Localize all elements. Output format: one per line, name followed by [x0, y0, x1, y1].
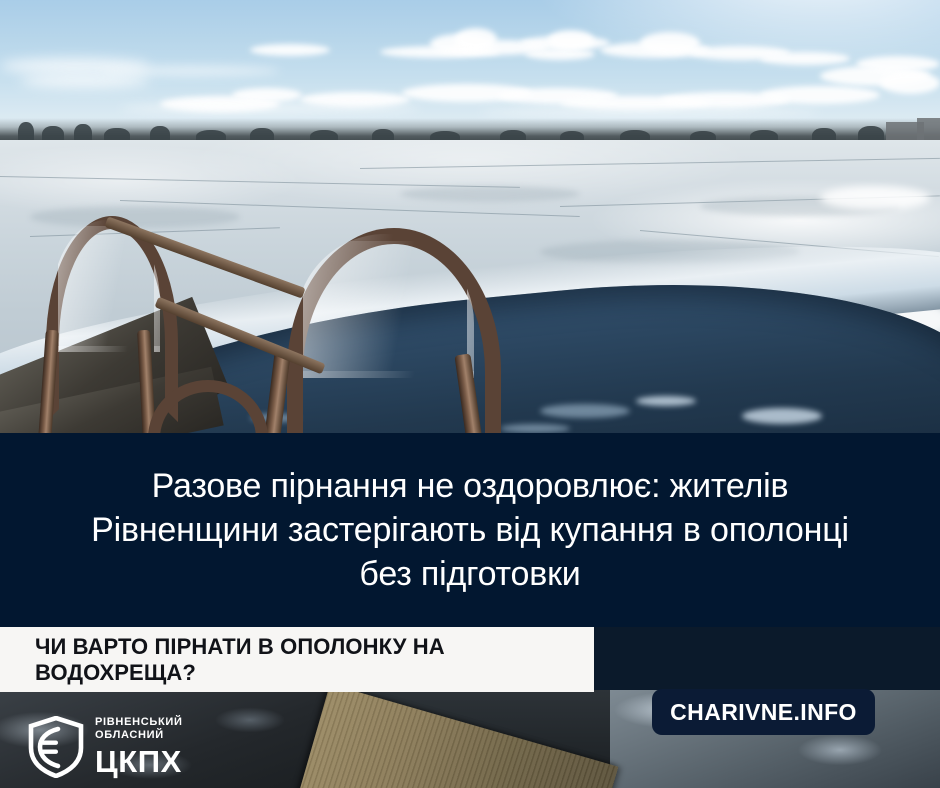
- shield-icon: [28, 716, 84, 778]
- caption-bar: ЧИ ВАРТО ПІРНАТИ В ОПОЛОНКУ НА ВОДОХРЕЩА…: [0, 627, 594, 692]
- water-reflection: [636, 396, 696, 406]
- cloud: [856, 56, 940, 72]
- water-reflection: [742, 408, 822, 424]
- cloud: [20, 74, 150, 88]
- cloud: [760, 86, 880, 104]
- site-badge-label: CHARIVNE.INFO: [670, 699, 857, 726]
- org-logo-abbreviation: ЦКПХ: [95, 746, 183, 777]
- cloud: [455, 28, 497, 50]
- cloud: [760, 52, 850, 65]
- caption-line-1: ЧИ ВАРТО ПІРНАТИ В ОПОЛОНКУ НА: [35, 634, 445, 660]
- caption-line-2: ВОДОХРЕЩА?: [35, 660, 445, 686]
- headline-text: Разове пірнання не оздоровлює: жителів Р…: [57, 464, 883, 597]
- water-reflection: [540, 404, 630, 418]
- cloud: [100, 66, 280, 76]
- ice-scuff: [400, 186, 580, 202]
- org-logo-line-1: РІВНЕНСЬКИЙ: [95, 717, 183, 728]
- org-logo: РІВНЕНСЬКИЙ ОБЛАСНИЙ ЦКПХ: [28, 716, 183, 778]
- headline-line-1: Разове пірнання не оздоровлює: жителів: [91, 464, 849, 508]
- cloud: [250, 44, 330, 56]
- org-logo-text: РІВНЕНСЬКИЙ ОБЛАСНИЙ ЦКПХ: [95, 717, 183, 777]
- news-share-card: Разове пірнання не оздоровлює: жителів Р…: [0, 0, 940, 788]
- cloud: [480, 108, 820, 116]
- site-badge[interactable]: CHARIVNE.INFO: [652, 689, 875, 735]
- cloud: [232, 88, 302, 102]
- headline-band: Разове пірнання не оздоровлює: жителів Р…: [0, 433, 940, 627]
- ice-glare: [820, 186, 930, 210]
- water-reflection: [500, 424, 570, 433]
- headline-line-2: Рівненщини застерігають від купання в оп…: [91, 508, 849, 552]
- cloud: [880, 72, 940, 94]
- cloud: [548, 30, 594, 50]
- cloud: [525, 48, 595, 60]
- org-logo-line-2: ОБЛАСНИЙ: [95, 730, 183, 741]
- headline-line-3: без підготовки: [91, 552, 849, 596]
- cloud: [120, 104, 420, 113]
- caption-text: ЧИ ВАРТО ПІРНАТИ В ОПОЛОНКУ НА ВОДОХРЕЩА…: [0, 634, 467, 685]
